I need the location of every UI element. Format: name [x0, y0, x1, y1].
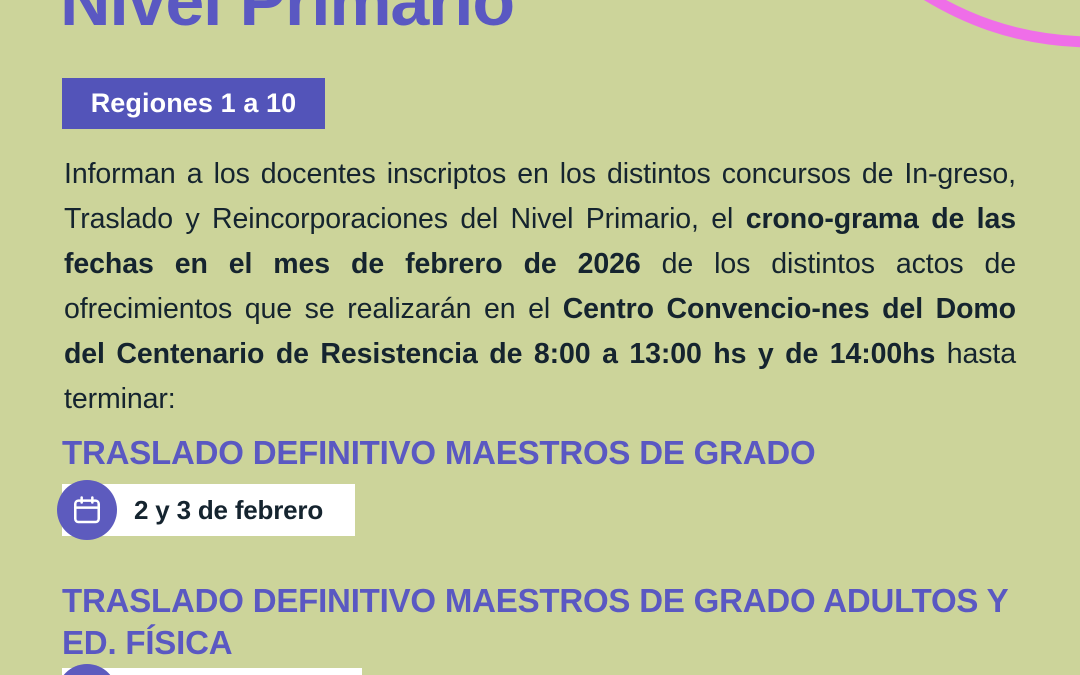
calendar-icon — [57, 664, 117, 675]
date-chip-traslado-grado: 2 y 3 de febrero — [62, 484, 355, 536]
section-heading-traslado-grado: TRASLADO DEFINITIVO MAESTROS DE GRADO — [62, 432, 1022, 474]
calendar-icon — [57, 480, 117, 540]
regions-badge: Regiones 1 a 10 — [62, 78, 325, 129]
poster-canvas: Nivel Primario Regiones 1 a 10 Informan … — [0, 0, 1080, 675]
section-heading-traslado-adultos: TRASLADO DEFINITIVO MAESTROS DE GRADO AD… — [62, 580, 1022, 664]
date-chip-label: 2 y 3 de febrero — [134, 495, 323, 526]
date-chip-traslado-adultos — [62, 668, 362, 675]
body-paragraph: Informan a los docentes inscriptos en lo… — [64, 152, 1016, 422]
regions-badge-label: Regiones 1 a 10 — [91, 88, 297, 119]
page-title: Nivel Primario — [60, 0, 514, 36]
